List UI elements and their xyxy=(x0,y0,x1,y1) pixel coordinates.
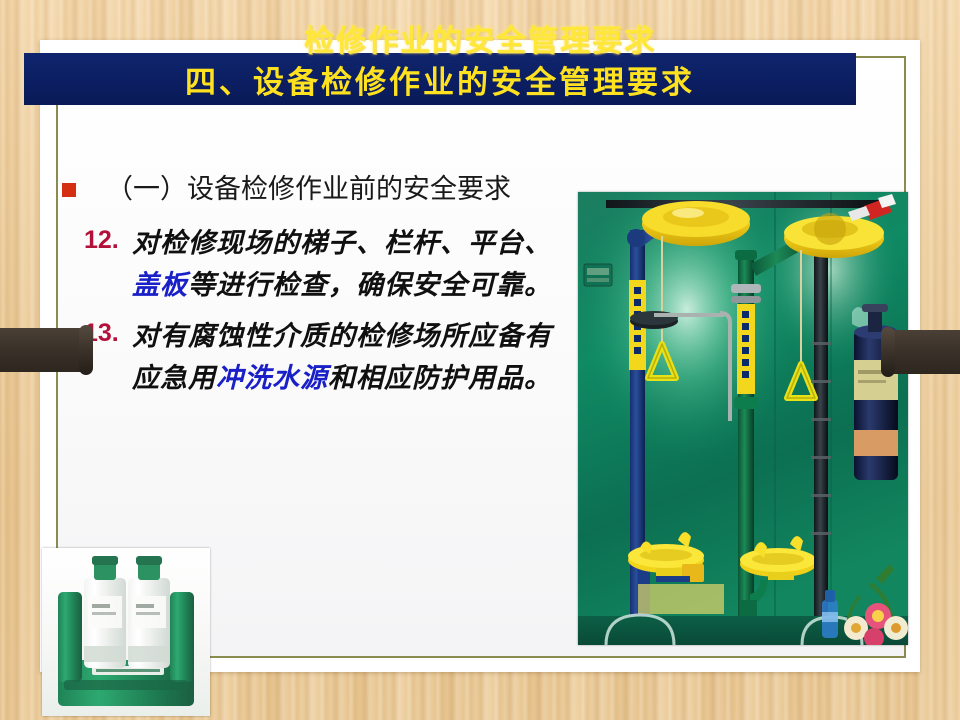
red-square-bullet-icon xyxy=(62,183,76,197)
list-item-highlight: 盖板 xyxy=(132,270,188,300)
list-item: 12. 对检修现场的梯子、栏杆、平台、盖板等进行检查，确保安全可靠。 xyxy=(84,222,562,306)
list-item: 13. 对有腐蚀性介质的检修场所应备有应急用冲洗水源和相应防护用品。 xyxy=(84,315,562,399)
slide-title-bar: 四、设备检修作业的安全管理要求 xyxy=(24,53,856,105)
presentation-slide: 检修作业的安全管理要求 四、设备检修作业的安全管理要求 （一）设备检修作业前的安… xyxy=(0,0,960,720)
emergency-shower-photo-graphic xyxy=(578,192,908,645)
list-item-text-part: 对检修现场的梯子、栏杆、平台、 xyxy=(132,228,552,258)
list-item-text: 对检修现场的梯子、栏杆、平台、盖板等进行检查，确保安全可靠。 xyxy=(132,222,562,306)
list-item-text: 对有腐蚀性介质的检修场所应备有应急用冲洗水源和相应防护用品。 xyxy=(132,315,562,399)
requirement-list: 12. 对检修现场的梯子、栏杆、平台、盖板等进行检查，确保安全可靠。 13. 对… xyxy=(62,222,562,398)
slide-title: 四、设备检修作业的安全管理要求 xyxy=(185,57,695,102)
section-bullet-label: （一）设备检修作业前的安全要求 xyxy=(92,170,511,208)
left-dark-ribbon xyxy=(0,328,86,372)
emergency-shower-photo xyxy=(578,192,908,645)
slide-body: （一）设备检修作业前的安全要求 12. 对检修现场的梯子、栏杆、平台、盖板等进行… xyxy=(62,170,562,407)
list-item-highlight: 冲洗水源 xyxy=(216,363,328,393)
eyewash-bottle-photo xyxy=(42,548,210,716)
list-item-text-part: 和相应防护用品。 xyxy=(328,363,552,393)
section-bullet-row: （一）设备检修作业前的安全要求 xyxy=(62,170,562,208)
list-item-number: 12. xyxy=(84,226,132,255)
right-dark-ribbon xyxy=(888,330,960,374)
eyewash-bottle-photo-graphic xyxy=(42,548,210,716)
list-item-text-part: 等进行检查，确保安全可靠。 xyxy=(188,270,552,300)
